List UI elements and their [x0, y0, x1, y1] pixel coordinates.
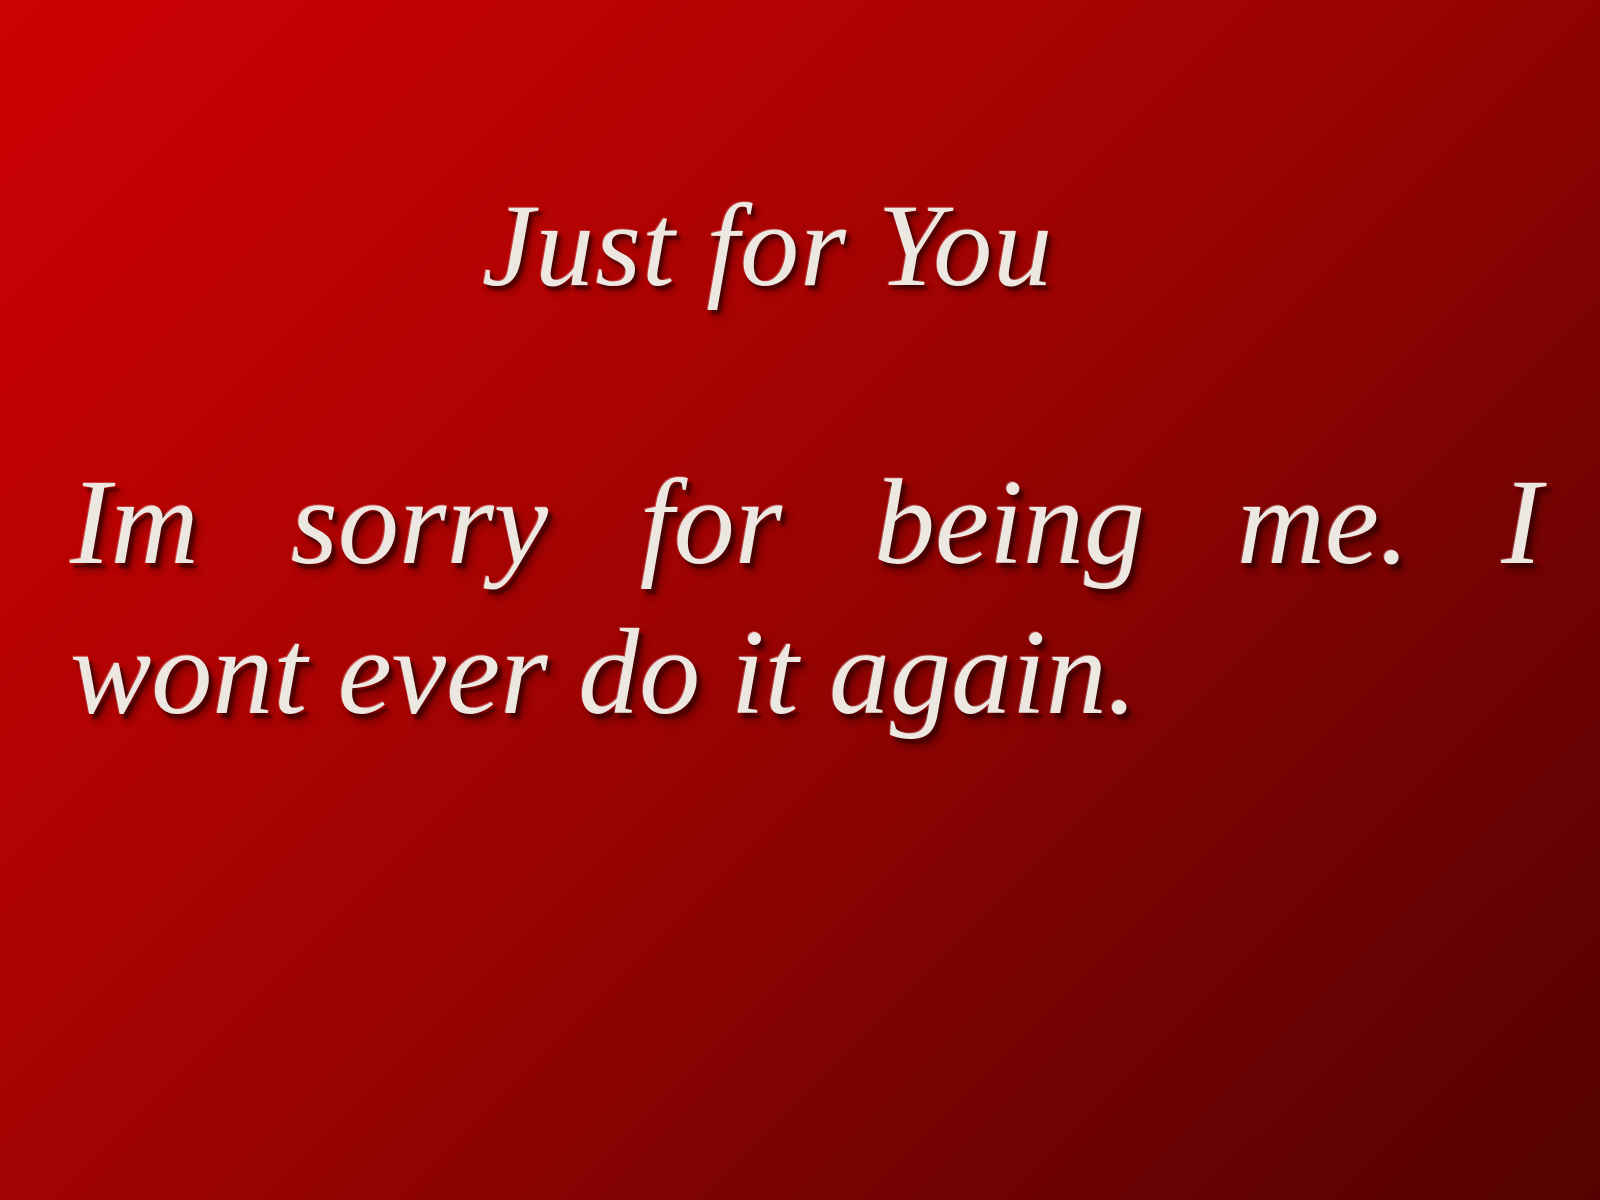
slide-body-container: Im sorry for being me. I wont ever do it…: [70, 448, 1542, 748]
body-word: Im: [70, 448, 199, 598]
body-word: for: [640, 448, 782, 598]
body-line-1: Im sorry for being me. I: [70, 448, 1542, 598]
body-word: I: [1501, 448, 1542, 598]
slide-canvas: Just for You Im sorry for being me. I wo…: [0, 0, 1600, 1200]
page-title: Just for You: [482, 183, 1054, 308]
body-line-2: wont ever do it again.: [70, 598, 1542, 748]
body-word: being: [874, 448, 1145, 598]
body-word: sorry: [291, 448, 549, 598]
slide-title-container: Just for You: [0, 104, 1535, 387]
body-word: me.: [1237, 448, 1410, 598]
